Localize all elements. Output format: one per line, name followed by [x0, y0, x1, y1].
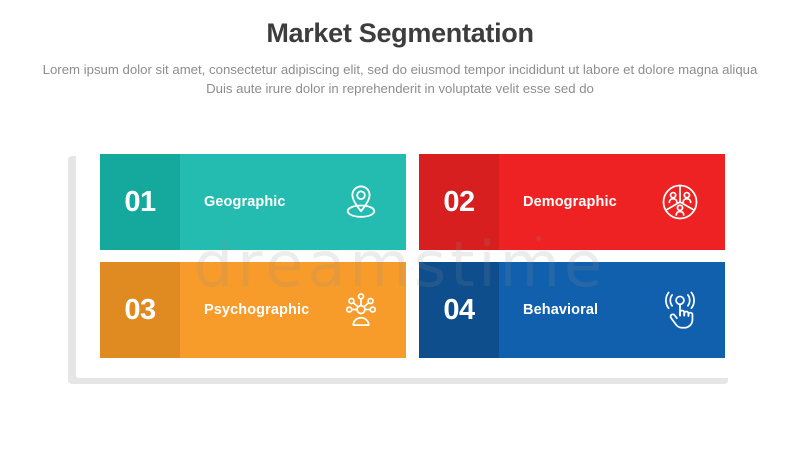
card-number: 03 [124, 296, 155, 325]
page-subtitle: Lorem ipsum dolor sit amet, consectetur … [30, 60, 770, 98]
card-label: Geographic [204, 194, 286, 210]
location-pin-icon [338, 179, 384, 225]
infographic-stage: 01 Geographic 02 Demographic [0, 140, 800, 400]
card-number: 02 [443, 188, 474, 217]
card-psychographic[interactable]: 03 Psychographic [100, 262, 406, 358]
card-number: 01 [124, 188, 155, 217]
card-body: Behavioral [499, 262, 725, 358]
card-label: Demographic [523, 194, 617, 210]
card-label: Psychographic [204, 302, 309, 318]
card-demographic[interactable]: 02 Demographic [419, 154, 725, 250]
page-title: Market Segmentation [0, 16, 800, 50]
card-number-block: 02 [419, 154, 499, 250]
card-label: Behavioral [523, 302, 598, 318]
card-number-block: 03 [100, 262, 180, 358]
card-number-block: 01 [100, 154, 180, 250]
card-number-block: 04 [419, 262, 499, 358]
card-body: Psychographic [180, 262, 406, 358]
card-grid: 01 Geographic 02 Demographic [100, 154, 725, 372]
card-number: 04 [443, 296, 474, 325]
tap-hand-icon [657, 287, 703, 333]
header: Market Segmentation Lorem ipsum dolor si… [0, 0, 800, 98]
card-behavioral[interactable]: 04 Behavioral [419, 262, 725, 358]
people-segments-icon [657, 179, 703, 225]
card-geographic[interactable]: 01 Geographic [100, 154, 406, 250]
card-body: Geographic [180, 154, 406, 250]
card-body: Demographic [499, 154, 725, 250]
person-network-icon [338, 287, 384, 333]
